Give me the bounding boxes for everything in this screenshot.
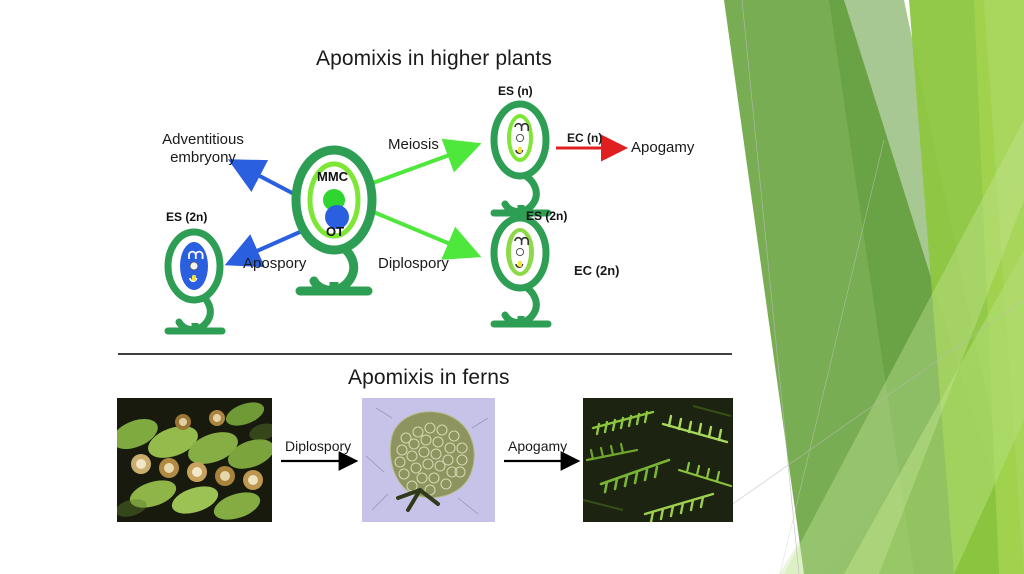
- label-apogamy: Apogamy: [631, 139, 694, 156]
- caption-step-apogamy: Apogamy: [508, 438, 567, 454]
- label-adventitious-embryony: Adventitious embryony: [148, 131, 258, 168]
- caption-step-diplospory: Diplospory: [285, 438, 351, 454]
- ovule-es-2n-left: [168, 232, 222, 331]
- slide-canvas: Apomixis in higher plants: [0, 0, 1024, 574]
- label-ec-2n: EC (2n): [574, 263, 620, 278]
- ovule-es-2n-right: [494, 218, 548, 324]
- apomixis-higher-plants-diagram: [0, 0, 1024, 350]
- ovule-label-es-n-top: ES (n): [498, 84, 533, 98]
- ot-label: OT: [326, 224, 344, 239]
- label-apospory: Apospory: [243, 255, 306, 272]
- label-meiosis: Meiosis: [388, 136, 439, 153]
- label-ec-n: EC (n): [567, 131, 602, 145]
- ovule-label-es-2n-right: ES (2n): [526, 209, 567, 223]
- mmc-label: MMC: [317, 169, 348, 184]
- section-divider: [118, 353, 732, 355]
- ferns-flow-arrows: [0, 390, 1024, 520]
- ovule-label-es-2n-left: ES (2n): [166, 210, 207, 224]
- ferns-section-title: Apomixis in ferns: [348, 366, 510, 390]
- ovule-es-n-top: [494, 104, 548, 213]
- label-diplospory: Diplospory: [378, 255, 449, 272]
